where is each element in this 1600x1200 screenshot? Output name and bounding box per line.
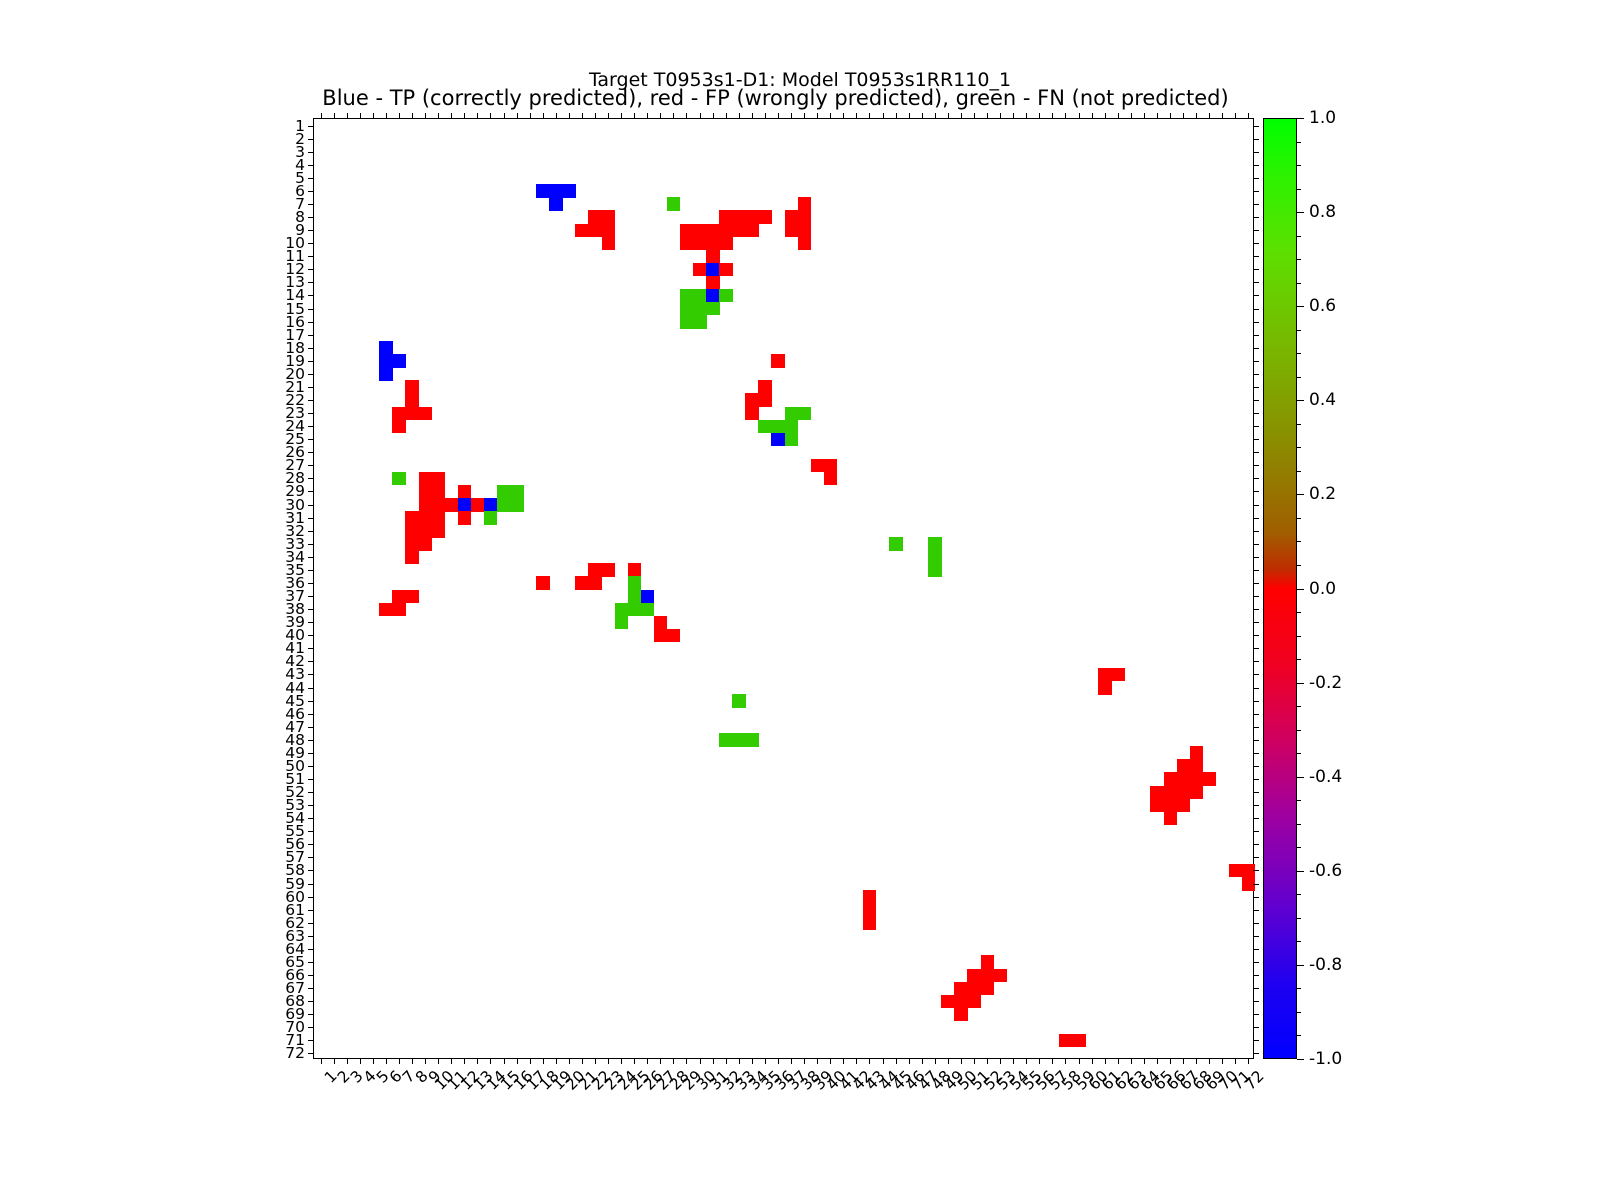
x-tick	[856, 1058, 857, 1064]
contact-cell	[392, 354, 406, 368]
x-tick	[948, 1058, 949, 1064]
colorbar-tick	[1297, 118, 1304, 119]
y-tick	[308, 622, 314, 623]
x-tick-top	[1026, 113, 1027, 119]
contact-cell	[641, 603, 655, 617]
colorbar-minor-tick	[1297, 377, 1301, 378]
contact-cell	[863, 903, 877, 917]
x-tick-top	[517, 113, 518, 119]
x-tick-top	[595, 113, 596, 119]
contact-map-plot-area[interactable]: 1234567891011121314151617181920212223242…	[313, 118, 1254, 1059]
y-tick-right	[1253, 557, 1259, 558]
contact-cell	[405, 524, 419, 538]
contact-cell	[824, 459, 838, 473]
y-tick	[308, 831, 314, 832]
colorbar-tick-label: 0.0	[1309, 579, 1336, 599]
colorbar-minor-tick	[1297, 800, 1301, 801]
x-tick-top	[830, 113, 831, 119]
x-tick	[1065, 1058, 1066, 1064]
y-tick-right	[1253, 727, 1259, 728]
contact-cell	[706, 289, 720, 303]
colorbar-tick	[1297, 777, 1304, 778]
y-tick-right	[1253, 243, 1259, 244]
contact-cell	[1177, 799, 1191, 813]
y-tick	[308, 374, 314, 375]
x-tick	[451, 1058, 452, 1064]
x-tick	[321, 1058, 322, 1064]
colorbar-tick-label: 1.0	[1309, 108, 1336, 128]
x-tick	[686, 1058, 687, 1064]
contact-cell	[954, 1008, 968, 1022]
y-tick-right	[1253, 191, 1259, 192]
y-tick-right	[1253, 165, 1259, 166]
contact-cell	[928, 537, 942, 551]
contact-cell	[706, 224, 720, 238]
contact-cell	[745, 393, 759, 407]
y-tick	[308, 152, 314, 153]
x-tick	[739, 1058, 740, 1064]
x-tick	[752, 1058, 753, 1064]
x-tick	[360, 1058, 361, 1064]
x-tick-top	[1013, 113, 1014, 119]
x-tick	[869, 1058, 870, 1064]
y-tick	[308, 518, 314, 519]
contact-cell	[392, 472, 406, 486]
y-tick-right	[1253, 400, 1259, 401]
colorbar-tick-label: -0.8	[1309, 955, 1342, 975]
y-tick-right	[1253, 322, 1259, 323]
contact-cell	[889, 537, 903, 551]
y-tick-right	[1253, 465, 1259, 466]
contact-cell	[628, 563, 642, 577]
x-tick-top	[869, 113, 870, 119]
y-tick	[308, 204, 314, 205]
contact-cell	[379, 367, 393, 381]
colorbar-tick	[1297, 965, 1304, 966]
y-tick-right	[1253, 491, 1259, 492]
y-tick	[308, 413, 314, 414]
y-tick	[308, 923, 314, 924]
y-tick-right	[1253, 387, 1259, 388]
colorbar[interactable]: 1.00.80.60.40.20.0-0.2-0.4-0.6-0.8-1.0	[1263, 118, 1297, 1059]
x-tick	[778, 1058, 779, 1064]
colorbar-minor-tick	[1297, 259, 1301, 260]
contact-cell	[785, 433, 799, 447]
contact-cell	[602, 224, 616, 238]
x-tick	[438, 1058, 439, 1064]
contact-cell	[628, 603, 642, 617]
y-tick-right	[1253, 870, 1259, 871]
y-tick-right	[1253, 256, 1259, 257]
y-tick	[308, 727, 314, 728]
x-tick-top	[1105, 113, 1106, 119]
contact-cell	[458, 485, 472, 499]
x-tick-top	[373, 113, 374, 119]
contact-cell	[419, 524, 433, 538]
contact-cell	[445, 498, 459, 512]
contact-cell	[379, 354, 393, 368]
colorbar-tick-label: 0.8	[1309, 202, 1336, 222]
x-tick-top	[1052, 113, 1053, 119]
contact-cell	[745, 224, 759, 238]
x-tick	[974, 1058, 975, 1064]
x-tick-top	[1131, 113, 1132, 119]
colorbar-minor-tick	[1297, 283, 1301, 284]
contact-cell	[693, 237, 707, 251]
y-tick	[308, 309, 314, 310]
y-tick	[308, 936, 314, 937]
contact-cell	[732, 733, 746, 747]
contact-cell	[588, 576, 602, 590]
contact-cell	[392, 407, 406, 421]
y-tick	[308, 975, 314, 976]
contact-cell	[392, 420, 406, 434]
y-tick	[308, 230, 314, 231]
x-tick	[608, 1058, 609, 1064]
contact-cell	[719, 263, 733, 277]
y-tick-right	[1253, 531, 1259, 532]
colorbar-minor-tick	[1297, 236, 1301, 237]
contact-cell	[785, 210, 799, 224]
y-tick	[308, 844, 314, 845]
contact-cell	[575, 224, 589, 238]
contact-cell	[745, 733, 759, 747]
y-tick-right	[1253, 714, 1259, 715]
contact-cell	[798, 210, 812, 224]
contact-cell	[419, 498, 433, 512]
y-tick	[308, 335, 314, 336]
y-tick	[308, 544, 314, 545]
contact-cell	[1059, 1034, 1073, 1048]
contact-cell	[928, 563, 942, 577]
x-tick	[647, 1058, 648, 1064]
contact-cell	[615, 616, 629, 630]
y-tick-right	[1253, 701, 1259, 702]
contact-cell	[1164, 799, 1178, 813]
y-tick	[308, 609, 314, 610]
colorbar-minor-tick	[1297, 541, 1301, 542]
contact-cell	[1164, 786, 1178, 800]
x-tick	[1144, 1058, 1145, 1064]
colorbar-tick	[1297, 871, 1304, 872]
contact-cell	[602, 563, 616, 577]
contact-cell	[497, 498, 511, 512]
contact-cell	[693, 302, 707, 316]
contact-cell	[863, 916, 877, 930]
y-tick	[308, 505, 314, 506]
y-tick-right	[1253, 1027, 1259, 1028]
contact-cell	[628, 576, 642, 590]
x-tick	[1157, 1058, 1158, 1064]
contact-cell	[745, 210, 759, 224]
y-tick	[308, 701, 314, 702]
y-tick-right	[1253, 792, 1259, 793]
y-tick-right	[1253, 1001, 1259, 1002]
colorbar-minor-tick	[1297, 447, 1301, 448]
x-tick	[477, 1058, 478, 1064]
contact-cell	[785, 407, 799, 421]
colorbar-minor-tick	[1297, 636, 1301, 637]
x-tick	[700, 1058, 701, 1064]
y-tick	[308, 478, 314, 479]
x-tick-top	[608, 113, 609, 119]
contact-cell	[667, 197, 681, 211]
colorbar-minor-tick	[1297, 988, 1301, 989]
y-tick	[308, 400, 314, 401]
contact-cell	[1098, 681, 1112, 695]
y-tick-right	[1253, 217, 1259, 218]
contact-cell	[732, 210, 746, 224]
x-tick	[804, 1058, 805, 1064]
contact-cell	[719, 289, 733, 303]
x-tick-top	[1000, 113, 1001, 119]
axes-title: Blue - TP (correctly predicted), red - F…	[313, 86, 1238, 110]
colorbar-minor-tick	[1297, 824, 1301, 825]
x-tick-top	[504, 113, 505, 119]
y-tick	[308, 126, 314, 127]
colorbar-tick-label: -0.6	[1309, 861, 1342, 881]
contact-cell	[588, 210, 602, 224]
y-tick	[308, 387, 314, 388]
y-tick	[308, 426, 314, 427]
colorbar-tick	[1297, 400, 1304, 401]
contact-cell	[419, 407, 433, 421]
x-tick	[1105, 1058, 1106, 1064]
colorbar-minor-tick	[1297, 330, 1301, 331]
contact-cell	[967, 982, 981, 996]
colorbar-minor-tick	[1297, 424, 1301, 425]
y-tick-right	[1253, 361, 1259, 362]
contact-cell	[432, 511, 446, 525]
y-tick-right	[1253, 335, 1259, 336]
y-tick-right	[1253, 818, 1259, 819]
x-tick-top	[804, 113, 805, 119]
y-tick-right	[1253, 975, 1259, 976]
contact-cell	[785, 224, 799, 238]
y-tick	[308, 897, 314, 898]
x-tick-top	[621, 113, 622, 119]
x-tick-top	[582, 113, 583, 119]
y-tick-right	[1253, 831, 1259, 832]
x-tick-top	[974, 113, 975, 119]
y-tick	[308, 779, 314, 780]
colorbar-tick	[1297, 683, 1304, 684]
colorbar-minor-tick	[1297, 142, 1301, 143]
contact-cell	[654, 629, 668, 643]
y-tick-right	[1253, 374, 1259, 375]
x-tick-top	[464, 113, 465, 119]
y-tick	[308, 857, 314, 858]
x-tick-top	[935, 113, 936, 119]
contact-cell	[863, 890, 877, 904]
contact-cell	[641, 590, 655, 604]
x-tick	[386, 1058, 387, 1064]
y-tick	[308, 1027, 314, 1028]
contact-cell	[706, 263, 720, 277]
y-tick	[308, 269, 314, 270]
x-tick	[1092, 1058, 1093, 1064]
x-tick-top	[1209, 113, 1210, 119]
y-tick	[308, 1053, 314, 1054]
x-tick-top	[700, 113, 701, 119]
contact-cell	[824, 472, 838, 486]
contact-cell	[405, 511, 419, 525]
colorbar-minor-tick	[1297, 730, 1301, 731]
x-tick	[517, 1058, 518, 1064]
y-tick	[308, 465, 314, 466]
y-tick-right	[1253, 805, 1259, 806]
x-tick-top	[1170, 113, 1171, 119]
y-tick	[308, 322, 314, 323]
contact-cell	[693, 289, 707, 303]
contact-cell	[379, 341, 393, 355]
y-tick-right	[1253, 884, 1259, 885]
y-tick	[308, 191, 314, 192]
contact-cell	[732, 694, 746, 708]
x-tick	[543, 1058, 544, 1064]
x-tick	[1039, 1058, 1040, 1064]
contact-cell	[536, 576, 550, 590]
contact-cell	[1190, 786, 1204, 800]
x-tick	[621, 1058, 622, 1064]
contact-cell	[471, 498, 485, 512]
y-tick-right	[1253, 583, 1259, 584]
contact-cell	[615, 603, 629, 617]
contact-cell	[719, 224, 733, 238]
y-tick	[308, 282, 314, 283]
y-tick-right	[1253, 661, 1259, 662]
contact-cell	[432, 498, 446, 512]
x-tick-top	[1092, 113, 1093, 119]
x-tick-top	[765, 113, 766, 119]
x-tick	[1000, 1058, 1001, 1064]
colorbar-minor-tick	[1297, 565, 1301, 566]
colorbar-tick-label: -1.0	[1309, 1049, 1342, 1069]
x-tick-top	[739, 113, 740, 119]
contact-cell	[680, 237, 694, 251]
y-tick	[308, 805, 314, 806]
x-tick	[347, 1058, 348, 1064]
y-tick-right	[1253, 204, 1259, 205]
y-tick	[308, 1014, 314, 1015]
y-tick	[308, 1040, 314, 1041]
x-tick-top	[660, 113, 661, 119]
y-tick	[308, 740, 314, 741]
x-tick-top	[1222, 113, 1223, 119]
contact-cell	[771, 433, 785, 447]
x-tick	[556, 1058, 557, 1064]
x-tick-top	[778, 113, 779, 119]
y-tick	[308, 792, 314, 793]
y-tick	[308, 361, 314, 362]
colorbar-minor-tick	[1297, 941, 1301, 942]
contact-cell	[758, 393, 772, 407]
y-tick-right	[1253, 544, 1259, 545]
colorbar-minor-tick	[1297, 918, 1301, 919]
colorbar-minor-tick	[1297, 189, 1301, 190]
contact-cells-layer	[314, 119, 1253, 1058]
y-tick	[308, 570, 314, 571]
y-tick	[308, 139, 314, 140]
x-tick	[425, 1058, 426, 1064]
contact-cell	[458, 498, 472, 512]
y-tick-right	[1253, 923, 1259, 924]
contact-cell	[510, 485, 524, 499]
y-tick-right	[1253, 897, 1259, 898]
y-tick	[308, 256, 314, 257]
colorbar-tick-label: -0.4	[1309, 767, 1342, 787]
contact-cell	[392, 590, 406, 604]
y-tick-right	[1253, 609, 1259, 610]
x-tick-top	[713, 113, 714, 119]
colorbar-minor-tick	[1297, 706, 1301, 707]
contact-cell	[549, 197, 563, 211]
x-tick	[1248, 1058, 1249, 1064]
x-tick-top	[726, 113, 727, 119]
y-tick-label: 72	[285, 1044, 305, 1062]
y-tick	[308, 348, 314, 349]
x-tick-top	[530, 113, 531, 119]
contact-cell	[419, 485, 433, 499]
x-tick-top	[909, 113, 910, 119]
contact-cell	[693, 315, 707, 329]
contact-cell	[758, 420, 772, 434]
y-tick-right	[1253, 779, 1259, 780]
x-tick-top	[347, 113, 348, 119]
x-tick	[830, 1058, 831, 1064]
y-tick-right	[1253, 152, 1259, 153]
contact-cell	[405, 537, 419, 551]
x-tick-top	[1157, 113, 1158, 119]
y-tick	[308, 988, 314, 989]
y-tick-right	[1253, 282, 1259, 283]
contact-cell	[549, 184, 563, 198]
y-tick-right	[1253, 230, 1259, 231]
y-tick-right	[1253, 348, 1259, 349]
contact-cell	[1098, 668, 1112, 682]
contact-cell	[1177, 772, 1191, 786]
x-tick-top	[883, 113, 884, 119]
colorbar-tick-label: 0.6	[1309, 296, 1336, 316]
contact-cell	[771, 354, 785, 368]
contact-cell	[1229, 864, 1243, 878]
contact-cell	[954, 982, 968, 996]
contact-cell	[811, 459, 825, 473]
x-tick-top	[1039, 113, 1040, 119]
x-tick	[1052, 1058, 1053, 1064]
contact-cell	[1190, 746, 1204, 760]
x-tick-top	[843, 113, 844, 119]
x-tick-top	[791, 113, 792, 119]
x-tick-top	[647, 113, 648, 119]
contact-cell	[706, 250, 720, 264]
contact-cell	[680, 302, 694, 316]
contact-cell	[758, 210, 772, 224]
x-tick-top	[896, 113, 897, 119]
contact-cell	[954, 995, 968, 1009]
contact-cell	[981, 955, 995, 969]
colorbar-minor-tick	[1297, 894, 1301, 895]
contact-cell	[745, 407, 759, 421]
contact-map-figure: Target T0953s1-D1: Model T0953s1RR110_1 …	[0, 0, 1600, 1200]
y-tick-right	[1253, 1014, 1259, 1015]
y-tick	[308, 1001, 314, 1002]
x-tick-top	[856, 113, 857, 119]
contact-cell	[967, 969, 981, 983]
y-tick-right	[1253, 988, 1259, 989]
y-tick-right	[1253, 648, 1259, 649]
contact-cell	[798, 224, 812, 238]
